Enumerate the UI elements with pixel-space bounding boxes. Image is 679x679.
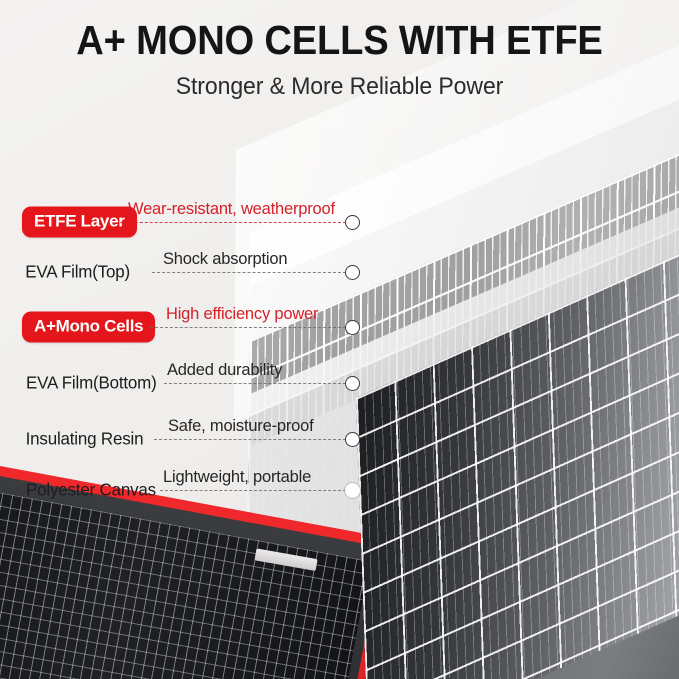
layer-badge-a-mono-cells[interactable]: A+Mono Cells: [22, 312, 155, 343]
leader-line-polyester-canvas: [160, 490, 346, 491]
layer-benefit-polyester-canvas: Lightweight, portable: [163, 468, 311, 490]
leader-node-etfe-layer[interactable]: [345, 215, 360, 230]
leader-node-insulating-resin[interactable]: [345, 432, 360, 447]
layer-label-polyester-canvas: Polyester Canvas: [26, 480, 156, 501]
layer-label-eva-film-top: EVA Film(Top): [25, 262, 130, 283]
leader-line-a-mono-cells: [150, 327, 346, 328]
leader-node-polyester-canvas[interactable]: [345, 483, 360, 498]
page-subtitle: Stronger & More Reliable Power: [14, 64, 666, 101]
leader-node-eva-film-bottom[interactable]: [345, 376, 360, 391]
product-infographic: A+ MONO CELLS WITH ETFE Stronger & More …: [0, 0, 679, 679]
leader-line-eva-film-bottom: [164, 383, 346, 384]
layer-benefit-eva-film-top: Shock absorption: [163, 250, 287, 272]
header: A+ MONO CELLS WITH ETFE Stronger & More …: [0, 0, 679, 101]
layer-benefit-insulating-resin: Safe, moisture-proof: [168, 417, 313, 439]
layer-label-insulating-resin: Insulating Resin: [26, 429, 144, 450]
leader-line-eva-film-top: [152, 272, 346, 273]
layer-label-eva-film-bottom: EVA Film(Bottom): [26, 373, 157, 394]
leader-line-etfe-layer: [120, 222, 346, 223]
leader-line-insulating-resin: [154, 439, 346, 440]
leader-node-a-mono-cells[interactable]: [345, 320, 360, 335]
layer-benefit-etfe-layer: Wear-resistant, weatherproof: [128, 200, 335, 222]
layer-benefit-a-mono-cells: High efficiency power: [166, 305, 318, 327]
layer-benefit-eva-film-bottom: Added durability: [167, 361, 282, 383]
page-title: A+ MONO CELLS WITH ETFE: [24, 0, 655, 64]
leader-node-eva-film-top[interactable]: [345, 265, 360, 280]
